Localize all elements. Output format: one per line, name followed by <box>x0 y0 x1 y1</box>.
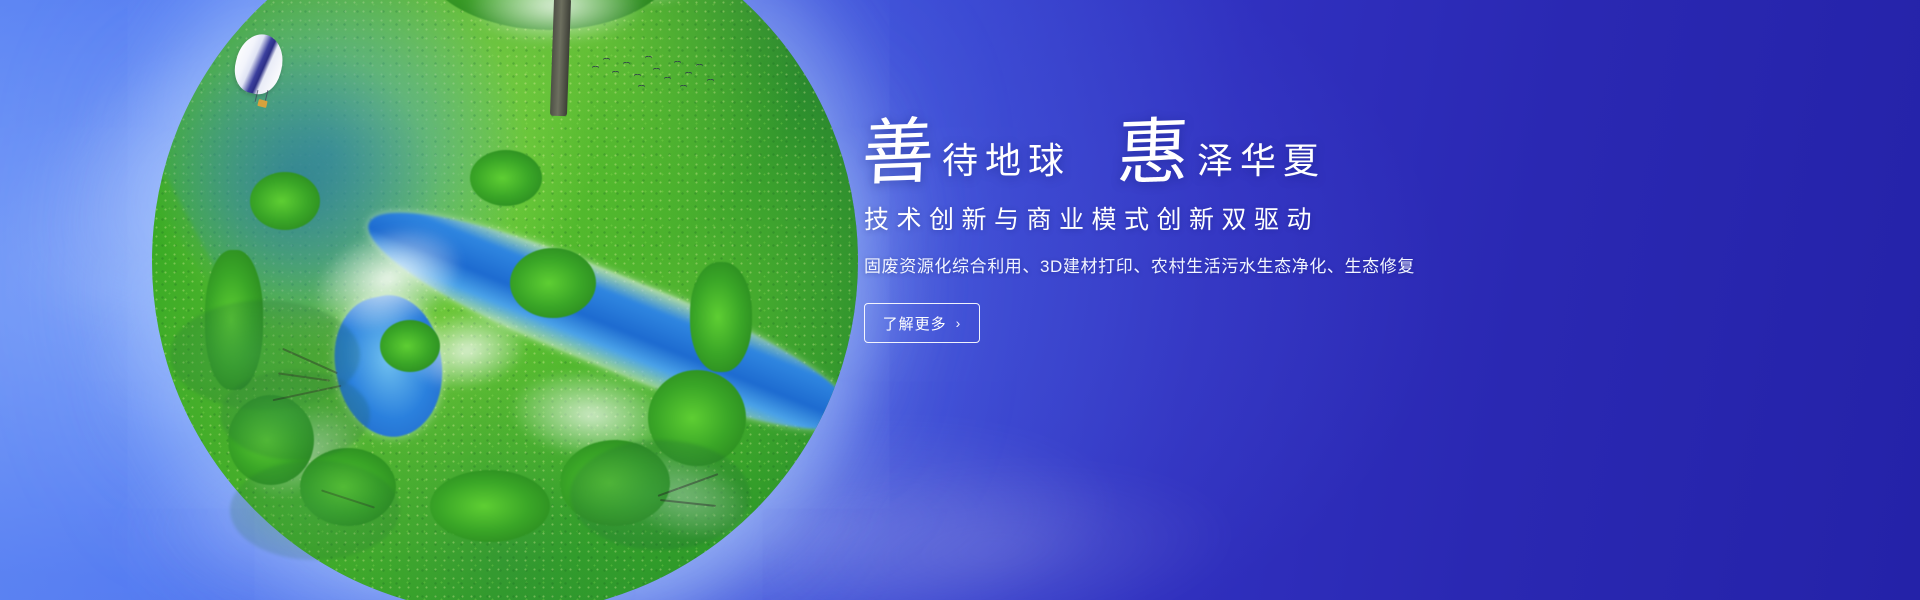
bird-icon <box>612 71 619 75</box>
headline-plain-text-2: 泽华夏 <box>1193 144 1326 180</box>
tree <box>510 248 596 318</box>
bird-icon <box>603 58 610 62</box>
chevron-right-icon: › <box>956 316 962 330</box>
bird-icon <box>680 85 687 89</box>
tree <box>690 262 752 372</box>
description: 固废资源化综合利用、3D建材打印、农村生活污水生态净化、生态修复 <box>864 252 1562 277</box>
bird-icon <box>592 66 599 70</box>
hero-banner: 善 待地球 惠 泽华夏 技术创新与商业模式创新双驱动 固废资源化综合利用、3D建… <box>0 0 1920 600</box>
headline-brush-char-2: 惠 <box>1116 117 1195 188</box>
bird-icon <box>664 77 671 81</box>
learn-more-label: 了解更多 <box>883 313 947 334</box>
banner-content: 善 待地球 惠 泽华夏 技术创新与商业模式创新双驱动 固废资源化综合利用、3D建… <box>862 118 1562 343</box>
headline: 善 待地球 惠 泽华夏 <box>862 118 1562 186</box>
balloon-basket <box>257 99 267 108</box>
bird-icon <box>645 56 652 60</box>
hot-air-balloon-icon <box>236 34 282 118</box>
bird-icon <box>623 62 630 66</box>
bird-icon <box>674 61 681 65</box>
bird-icon <box>685 72 692 76</box>
bird-icon <box>707 79 714 83</box>
silhouette-tree <box>560 430 790 600</box>
tree <box>430 470 550 542</box>
tree <box>250 172 320 230</box>
bird-flock <box>590 52 720 94</box>
learn-more-button[interactable]: 了解更多 › <box>864 303 980 343</box>
headline-brush-char-1: 善 <box>861 117 940 188</box>
tree <box>470 150 542 206</box>
balloon-envelope <box>229 29 288 98</box>
headline-plain-text-1: 待地球 <box>938 144 1071 180</box>
silhouette-tree <box>230 440 430 600</box>
bird-icon <box>638 85 645 89</box>
bird-icon <box>653 68 660 72</box>
tree-trunk <box>550 0 571 116</box>
bird-icon <box>696 64 703 68</box>
bird-icon <box>634 74 641 78</box>
subtitle: 技术创新与商业模式创新双驱动 <box>864 200 1562 236</box>
